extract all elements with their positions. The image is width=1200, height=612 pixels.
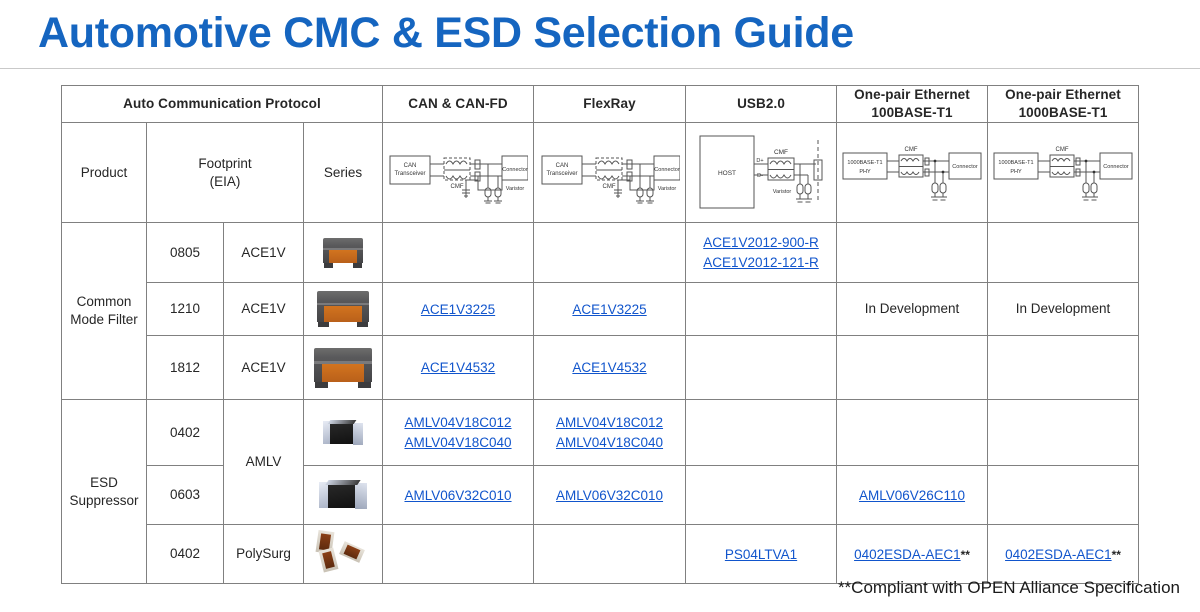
status-text-eth100: In Development xyxy=(837,283,988,336)
part-photo-cell xyxy=(304,223,383,283)
product-group-common-mode-filter: Common Mode Filter xyxy=(62,223,147,400)
eth100-phy-label-line1: 1000BASE-T1 xyxy=(847,160,882,166)
header-auto-communication-protocol: Auto Communication Protocol xyxy=(62,86,383,123)
part-number-cell-usb xyxy=(686,336,837,400)
part-number-link[interactable]: 0402ESDA-AEC1 xyxy=(854,547,961,562)
header-ethernet-1000base-t1-line2: 1000BASE-T1 xyxy=(1019,105,1108,120)
header-ethernet-1000base-t1: One-pair Ethernet 1000BASE-T1 xyxy=(988,86,1139,123)
status-text-eth1000: In Development xyxy=(988,283,1139,336)
table-row: 0402 PolySurg PS04LTVA1 0402ESDA-AEC xyxy=(62,525,1139,584)
header-flexray: FlexRay xyxy=(534,86,686,123)
part-number-link[interactable]: AMLV06V26C110 xyxy=(837,486,987,506)
eth1000-connector-label: Connector xyxy=(1103,164,1129,170)
part-photo-cell xyxy=(304,283,383,336)
part-photo-cell xyxy=(304,525,383,584)
series-cell: ACE1V xyxy=(224,223,304,283)
eth1000-cmf-label: CMF xyxy=(1056,147,1069,153)
table-header-row-2: Product Footprint (EIA) Series xyxy=(62,123,1139,223)
part-number-cell-eth1000 xyxy=(988,400,1139,466)
part-number-cell-eth100 xyxy=(837,223,988,283)
eth1000-phy-label-line1: 1000BASE-T1 xyxy=(998,160,1033,166)
part-number-cell-eth100 xyxy=(837,400,988,466)
open-alliance-marker: ** xyxy=(1112,548,1121,562)
part-number-link[interactable]: ACE1V3225 xyxy=(383,300,533,320)
header-ethernet-100base-t1: One-pair Ethernet 100BASE-T1 xyxy=(837,86,988,123)
open-alliance-marker: ** xyxy=(961,548,970,562)
product-group-esd-suppressor: ESD Suppressor xyxy=(62,400,147,584)
part-number-cell-can xyxy=(383,525,534,584)
eth100-phy-label-line2: PHY xyxy=(859,169,871,175)
part-number-link[interactable]: PS04LTVA1 xyxy=(686,545,836,565)
part-number-cell-can: ACE1V4532 xyxy=(383,336,534,400)
footprint-cell: 0805 xyxy=(147,223,224,283)
header-usb: USB2.0 xyxy=(686,86,837,123)
header-ethernet-100base-t1-line2: 100BASE-T1 xyxy=(871,105,952,120)
part-number-cell-usb xyxy=(686,283,837,336)
page-title: Automotive CMC & ESD Selection Guide xyxy=(38,9,854,58)
usb-cmf-label: CMF xyxy=(774,149,788,156)
circuit-diagram-can: CAN Transceiver CMF Varistor Connector xyxy=(383,123,534,223)
part-photo-cell xyxy=(304,336,383,400)
flexray-connector-label: Connector xyxy=(654,167,680,173)
can-cmf-label: CMF xyxy=(451,184,464,190)
part-number-cell-can: ACE1V3225 xyxy=(383,283,534,336)
usb-host-label: HOST xyxy=(718,170,736,177)
part-number-cell-eth1000 xyxy=(988,223,1139,283)
header-series: Series xyxy=(304,123,383,223)
part-number-link[interactable]: AMLV06V32C010 xyxy=(383,486,533,506)
part-number-cell-flexray: AMLV04V18C012 AMLV04V18C040 xyxy=(534,400,686,466)
circuit-diagram-ethernet-1000base-t1: 1000BASE-T1 PHY CMF Connector xyxy=(988,123,1139,223)
table-header-row-1: Auto Communication Protocol CAN & CAN-FD… xyxy=(62,86,1139,123)
cmf-chip-photo xyxy=(304,336,382,399)
can-block-label-line2: Transceiver xyxy=(394,171,425,177)
part-number-cell-flexray xyxy=(534,223,686,283)
part-number-link[interactable]: AMLV06V32C010 xyxy=(534,486,685,506)
part-number-cell-eth100 xyxy=(837,336,988,400)
eth1000-phy-label-line2: PHY xyxy=(1010,169,1022,175)
part-number-cell-flexray: AMLV06V32C010 xyxy=(534,466,686,525)
part-number-cell-can: AMLV04V18C012 AMLV04V18C040 xyxy=(383,400,534,466)
footprint-cell: 0603 xyxy=(147,466,224,525)
part-number-link[interactable]: AMLV04V18C040 xyxy=(534,433,685,453)
selection-guide-table: Auto Communication Protocol CAN & CAN-FD… xyxy=(61,85,1139,584)
part-number-cell-can xyxy=(383,223,534,283)
can-block-label-line1: CAN xyxy=(404,163,417,169)
part-number-cell-usb: ACE1V2012-900-R ACE1V2012-121-R xyxy=(686,223,837,283)
series-cell: ACE1V xyxy=(224,336,304,400)
polysurg-chip-photo xyxy=(304,525,382,583)
table-row: ESD Suppressor 0402 AMLV AMLV04V18C012 A… xyxy=(62,400,1139,466)
footprint-cell: 1812 xyxy=(147,336,224,400)
footnote-open-alliance: **Compliant with OPEN Alliance Specifica… xyxy=(838,578,1180,598)
part-number-cell-eth1000 xyxy=(988,466,1139,525)
table-row: 1812 ACE1V ACE1V4532 ACE1V4532 xyxy=(62,336,1139,400)
flexray-block-label-line1: CAN xyxy=(555,163,568,169)
part-number-link[interactable]: ACE1V2012-900-R xyxy=(686,233,836,253)
part-number-cell-usb xyxy=(686,400,837,466)
part-number-link[interactable]: ACE1V2012-121-R xyxy=(686,253,836,273)
flexray-cmf-label: CMF xyxy=(602,184,615,190)
footprint-cell: 1210 xyxy=(147,283,224,336)
usb-varistor-label: Varistor xyxy=(773,189,792,195)
part-number-link[interactable]: AMLV04V18C012 xyxy=(534,413,685,433)
circuit-diagram-flexray: CAN Transceiver CMF Varistor Connector xyxy=(534,123,686,223)
header-ethernet-1000base-t1-line1: One-pair Ethernet xyxy=(1005,87,1121,102)
cmf-chip-photo xyxy=(304,223,382,282)
part-photo-cell xyxy=(304,466,383,525)
footprint-cell: 0402 xyxy=(147,400,224,466)
circuit-diagram-usb: HOST D+ D- CMF Varistor xyxy=(686,123,837,223)
table-row: 0603 AMLV06V32C010 AMLV06V32C010 AMLV06V… xyxy=(62,466,1139,525)
can-connector-label: Connector xyxy=(502,167,528,173)
usb-pin-dplus-label: D+ xyxy=(756,158,763,164)
header-can: CAN & CAN-FD xyxy=(383,86,534,123)
part-number-link[interactable]: AMLV04V18C040 xyxy=(383,433,533,453)
series-cell: ACE1V xyxy=(224,283,304,336)
product-group-label-line1: Common xyxy=(77,294,132,309)
part-number-cell-eth1000 xyxy=(988,336,1139,400)
part-photo-cell xyxy=(304,400,383,466)
part-number-link[interactable]: ACE1V4532 xyxy=(534,358,685,378)
circuit-diagram-ethernet-100base-t1: 1000BASE-T1 PHY CMF Connector xyxy=(837,123,988,223)
part-number-cell-can: AMLV06V32C010 xyxy=(383,466,534,525)
part-number-link[interactable]: AMLV04V18C012 xyxy=(383,413,533,433)
header-product: Product xyxy=(62,123,147,223)
flexray-varistor-label: Varistor xyxy=(657,186,676,192)
title-divider xyxy=(0,68,1200,69)
part-number-cell-usb xyxy=(686,466,837,525)
part-number-cell-flexray: ACE1V4532 xyxy=(534,336,686,400)
header-footprint: Footprint (EIA) xyxy=(147,123,304,223)
part-number-cell-usb: PS04LTVA1 xyxy=(686,525,837,584)
part-number-cell-eth100: AMLV06V26C110 xyxy=(837,466,988,525)
part-number-cell-eth100: 0402ESDA-AEC1** xyxy=(837,525,988,584)
part-number-cell-eth1000: 0402ESDA-AEC1** xyxy=(988,525,1139,584)
product-group-label-line2: Mode Filter xyxy=(70,312,138,327)
footprint-cell: 0402 xyxy=(147,525,224,584)
part-number-link[interactable]: ACE1V4532 xyxy=(383,358,533,378)
series-cell: PolySurg xyxy=(224,525,304,584)
amlv-chip-photo xyxy=(304,466,382,524)
title-bar: Automotive CMC & ESD Selection Guide xyxy=(0,0,1200,70)
part-number-cell-flexray: ACE1V3225 xyxy=(534,283,686,336)
usb-pin-dminus-label: D- xyxy=(757,173,763,179)
table-row: Common Mode Filter 0805 ACE1V ACE1V2012-… xyxy=(62,223,1139,283)
can-varistor-label: Varistor xyxy=(506,186,525,192)
cmf-chip-photo xyxy=(304,283,382,335)
part-number-link[interactable]: 0402ESDA-AEC1 xyxy=(1005,547,1112,562)
part-number-link[interactable]: ACE1V3225 xyxy=(534,300,685,320)
table-row: 1210 ACE1V ACE1V3225 ACE1V3225 In Develo… xyxy=(62,283,1139,336)
eth100-connector-label: Connector xyxy=(952,164,978,170)
series-cell: AMLV xyxy=(224,400,304,525)
header-footprint-line1: Footprint xyxy=(198,156,251,171)
header-footprint-line2: (EIA) xyxy=(210,174,241,189)
product-group-label-line1: ESD xyxy=(90,475,118,490)
eth100-cmf-label: CMF xyxy=(905,147,918,153)
product-group-label-line2: Suppressor xyxy=(69,493,138,508)
header-ethernet-100base-t1-line1: One-pair Ethernet xyxy=(854,87,970,102)
flexray-block-label-line2: Transceiver xyxy=(546,171,577,177)
part-number-cell-flexray xyxy=(534,525,686,584)
amlv-chip-photo xyxy=(304,400,382,465)
